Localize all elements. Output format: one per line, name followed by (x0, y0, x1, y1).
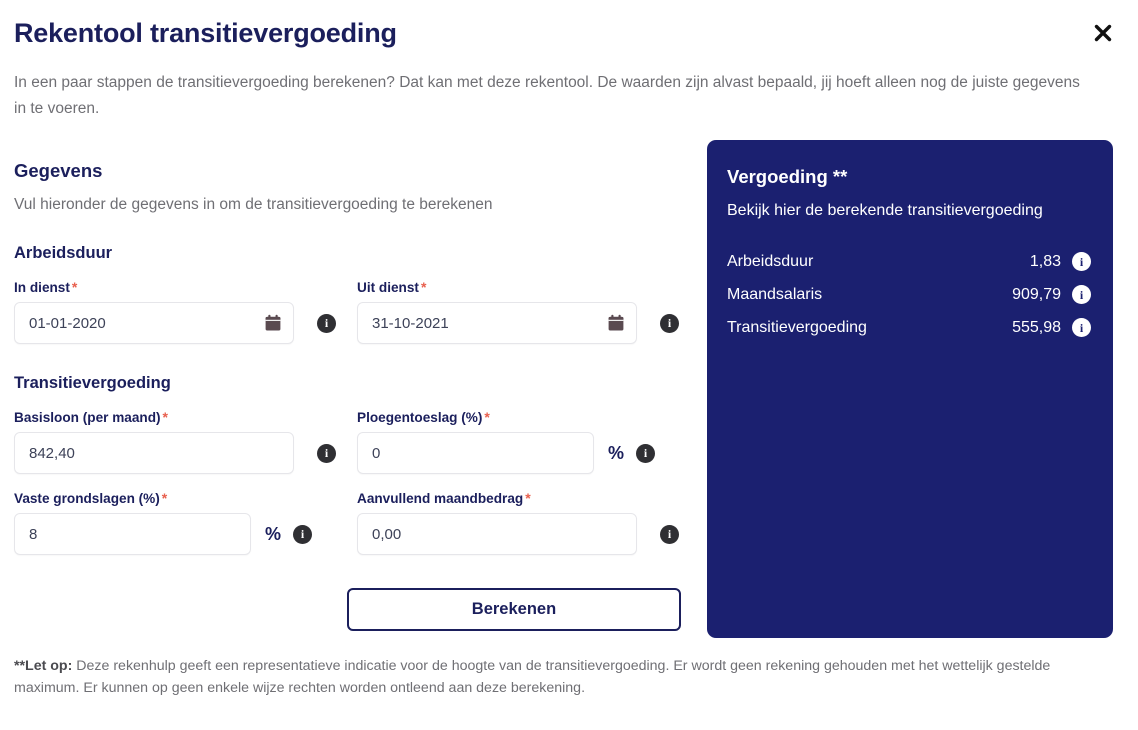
label-uit-dienst: Uit dienst* (357, 279, 686, 295)
info-icon-result-maandsalaris[interactable]: i (1072, 285, 1091, 304)
form-column: Gegevens Vul hieronder de gegevens in om… (14, 160, 686, 631)
field-row-arbeidsduur: In dienst* i (14, 279, 686, 344)
label-text: Ploegentoeslag (%) (357, 410, 482, 425)
input-line: i (357, 513, 686, 555)
footnote-text: Deze rekenhulp geeft een representatieve… (14, 658, 1050, 696)
group-heading-arbeidsduur: Arbeidsduur (14, 244, 686, 263)
label-text: Uit dienst (357, 280, 419, 295)
result-value: 1,83 (1030, 253, 1061, 271)
info-icon-aanvullend-maandbedrag[interactable]: i (660, 525, 679, 544)
aanvullend-maandbedrag-input[interactable] (358, 514, 636, 554)
field-aanvullend-maandbedrag: Aanvullend maandbedrag* i (357, 490, 686, 555)
footnote: **Let op: Deze rekenhulp geeft een repre… (14, 655, 1100, 699)
basisloon-input[interactable] (15, 433, 293, 473)
label-ploegentoeslag: Ploegentoeslag (%)* (357, 409, 686, 425)
result-subtitle: Bekijk hier de berekende transitievergoe… (727, 202, 1091, 220)
ploegentoeslag-input[interactable] (358, 433, 593, 473)
required-asterisk: * (525, 490, 530, 506)
footnote-lead: **Let op: (14, 658, 72, 674)
field-row-grondslagen: Vaste grondslagen (%)* % i Aanvullend ma… (14, 490, 686, 555)
input-line: i (357, 302, 686, 344)
result-panel: Vergoeding ** Bekijk hier de berekende t… (707, 140, 1113, 638)
in-dienst-input-wrap[interactable] (14, 302, 294, 344)
field-uit-dienst: Uit dienst* i (357, 279, 686, 344)
field-in-dienst: In dienst* i (14, 279, 357, 344)
result-row-maandsalaris: Maandsalaris 909,79 i (727, 285, 1091, 304)
required-asterisk: * (72, 279, 77, 295)
label-text: Aanvullend maandbedrag (357, 491, 523, 506)
result-list: Arbeidsduur 1,83 i Maandsalaris 909,79 i… (727, 252, 1091, 337)
label-vaste-grondslagen: Vaste grondslagen (%)* (14, 490, 357, 506)
input-line: % i (14, 513, 357, 555)
info-icon-result-arbeidsduur[interactable]: i (1072, 252, 1091, 271)
label-text: In dienst (14, 280, 70, 295)
basisloon-input-wrap[interactable] (14, 432, 294, 474)
info-icon-uit-dienst[interactable]: i (660, 314, 679, 333)
calculate-row: Berekenen (14, 588, 686, 631)
vaste-grondslagen-input-wrap[interactable] (14, 513, 251, 555)
info-icon-basisloon[interactable]: i (317, 444, 336, 463)
berekenen-button[interactable]: Berekenen (347, 588, 681, 631)
field-ploegentoeslag: Ploegentoeslag (%)* % i (357, 409, 686, 474)
label-text: Vaste grondslagen (%) (14, 491, 160, 506)
result-label: Transitievergoeding (727, 319, 1012, 337)
result-row-arbeidsduur: Arbeidsduur 1,83 i (727, 252, 1091, 271)
info-icon-result-transitievergoeding[interactable]: i (1072, 318, 1091, 337)
close-glyph (1092, 22, 1114, 44)
uit-dienst-input[interactable] (358, 303, 636, 343)
label-text: Basisloon (per maand) (14, 410, 161, 425)
field-vaste-grondslagen: Vaste grondslagen (%)* % i (14, 490, 357, 555)
intro-text: In een paar stappen de transitievergoedi… (14, 70, 1094, 122)
info-icon-ploegentoeslag[interactable]: i (636, 444, 655, 463)
section-subtitle: Vul hieronder de gegevens in om de trans… (14, 196, 686, 214)
vaste-grondslagen-input[interactable] (15, 514, 250, 554)
in-dienst-input[interactable] (15, 303, 293, 343)
result-title: Vergoeding ** (727, 166, 1091, 188)
label-basisloon: Basisloon (per maand)* (14, 409, 357, 425)
group-heading-transitievergoeding: Transitievergoeding (14, 374, 686, 393)
info-icon-vaste-grondslagen[interactable]: i (293, 525, 312, 544)
field-basisloon: Basisloon (per maand)* i (14, 409, 357, 474)
label-aanvullend-maandbedrag: Aanvullend maandbedrag* (357, 490, 686, 506)
percent-suffix: % (608, 443, 624, 464)
result-value: 909,79 (1012, 286, 1061, 304)
result-row-transitievergoeding: Transitievergoeding 555,98 i (727, 318, 1091, 337)
calendar-icon[interactable] (608, 315, 624, 332)
aanvullend-maandbedrag-input-wrap[interactable] (357, 513, 637, 555)
percent-suffix: % (265, 524, 281, 545)
close-icon[interactable] (1086, 16, 1120, 50)
uit-dienst-input-wrap[interactable] (357, 302, 637, 344)
result-label: Maandsalaris (727, 286, 1012, 304)
rekentool-modal: Rekentool transitievergoeding In een paa… (0, 0, 1138, 730)
required-asterisk: * (162, 490, 167, 506)
page-title: Rekentool transitievergoeding (14, 18, 397, 49)
ploegentoeslag-input-wrap[interactable] (357, 432, 594, 474)
input-line: % i (357, 432, 686, 474)
result-value: 555,98 (1012, 319, 1061, 337)
required-asterisk: * (163, 409, 168, 425)
calendar-icon[interactable] (265, 315, 281, 332)
label-in-dienst: In dienst* (14, 279, 357, 295)
field-row-loon: Basisloon (per maand)* i Ploegentoeslag … (14, 409, 686, 474)
input-line: i (14, 302, 357, 344)
info-icon-in-dienst[interactable]: i (317, 314, 336, 333)
required-asterisk: * (421, 279, 426, 295)
result-label: Arbeidsduur (727, 253, 1030, 271)
section-heading-gegevens: Gegevens (14, 160, 686, 182)
required-asterisk: * (484, 409, 489, 425)
input-line: i (14, 432, 357, 474)
